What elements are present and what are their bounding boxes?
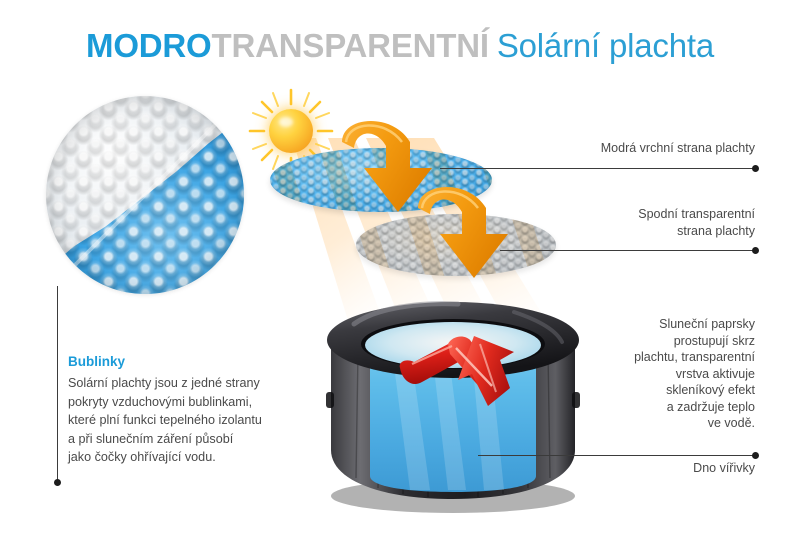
sun-disc [269, 109, 313, 153]
title-part-transparentni: TRANSPARENTNÍ [212, 27, 489, 64]
callout-greenhouse-effect: Sluneční paprsky prostupují skrz plachtu… [590, 316, 755, 432]
leader-line-bottom-cover [500, 250, 755, 251]
sun-glint [279, 117, 293, 127]
leader-line-top-cover [440, 168, 755, 169]
title-part-solarni-plachta: Solární plachta [489, 27, 714, 64]
bubbles-line-5: jako čočky ohřívající vodu. [68, 448, 348, 467]
leader-dot-bubbles [54, 479, 61, 486]
leader-dot-top-cover [752, 165, 759, 172]
callout-sun-line5: skleníkový efekt [590, 382, 755, 399]
callout-sun-line3: plachtu, transparentní [590, 349, 755, 366]
callout-sun-line4: vrstva aktivuje [590, 366, 755, 383]
bubbles-heading: Bublinky [68, 352, 348, 372]
callout-sun-line7: ve vodě. [590, 415, 755, 432]
title-part-modro: MODRO [86, 27, 212, 64]
leader-dot-tub-bottom [752, 452, 759, 459]
page-title: MODROTRANSPARENTNÍSolární plachta [0, 24, 800, 68]
bubbles-line-4: a při slunečním záření působí [68, 430, 348, 449]
leader-line-bubbles [57, 286, 58, 482]
infographic-canvas: MODROTRANSPARENTNÍSolární plachta [0, 0, 800, 537]
callout-bottom-cover: Spodní transparentní strana plachty [515, 206, 755, 239]
bubbles-line-1: Solární plachty jsou z jedné strany [68, 374, 348, 393]
bubbles-info-block: Bublinky Solární plachty jsou z jedné st… [68, 352, 348, 467]
callout-tub-bottom: Dno vířivky [560, 460, 755, 477]
bubble-wrap-photo [46, 96, 244, 294]
bubble-photo-vignette [46, 96, 244, 294]
leader-line-tub-bottom [478, 455, 755, 456]
leader-dot-bottom-cover [752, 247, 759, 254]
callout-sun-line1: Sluneční paprsky [590, 316, 755, 333]
bubbles-paragraph: Solární plachty jsou z jedné strany pokr… [68, 374, 348, 467]
orange-down-arrow-2 [412, 178, 532, 288]
callout-sun-line6: a zadržuje teplo [590, 399, 755, 416]
callout-bottom-cover-line2: strana plachty [515, 223, 755, 240]
bubbles-line-3: které plní funkci tepelného izolantu [68, 411, 348, 430]
callout-top-cover-text: Modrá vrchní strana plachty [515, 140, 755, 157]
callout-sun-line2: prostupují skrz [590, 333, 755, 350]
red-heat-arrow [396, 330, 526, 412]
bubbles-line-2: pokryty vzduchovými bublinkami, [68, 393, 348, 412]
callout-bottom-cover-line1: Spodní transparentní [515, 206, 755, 223]
callout-tub-bottom-text: Dno vířivky [560, 460, 755, 477]
callout-top-cover: Modrá vrchní strana plachty [515, 140, 755, 157]
